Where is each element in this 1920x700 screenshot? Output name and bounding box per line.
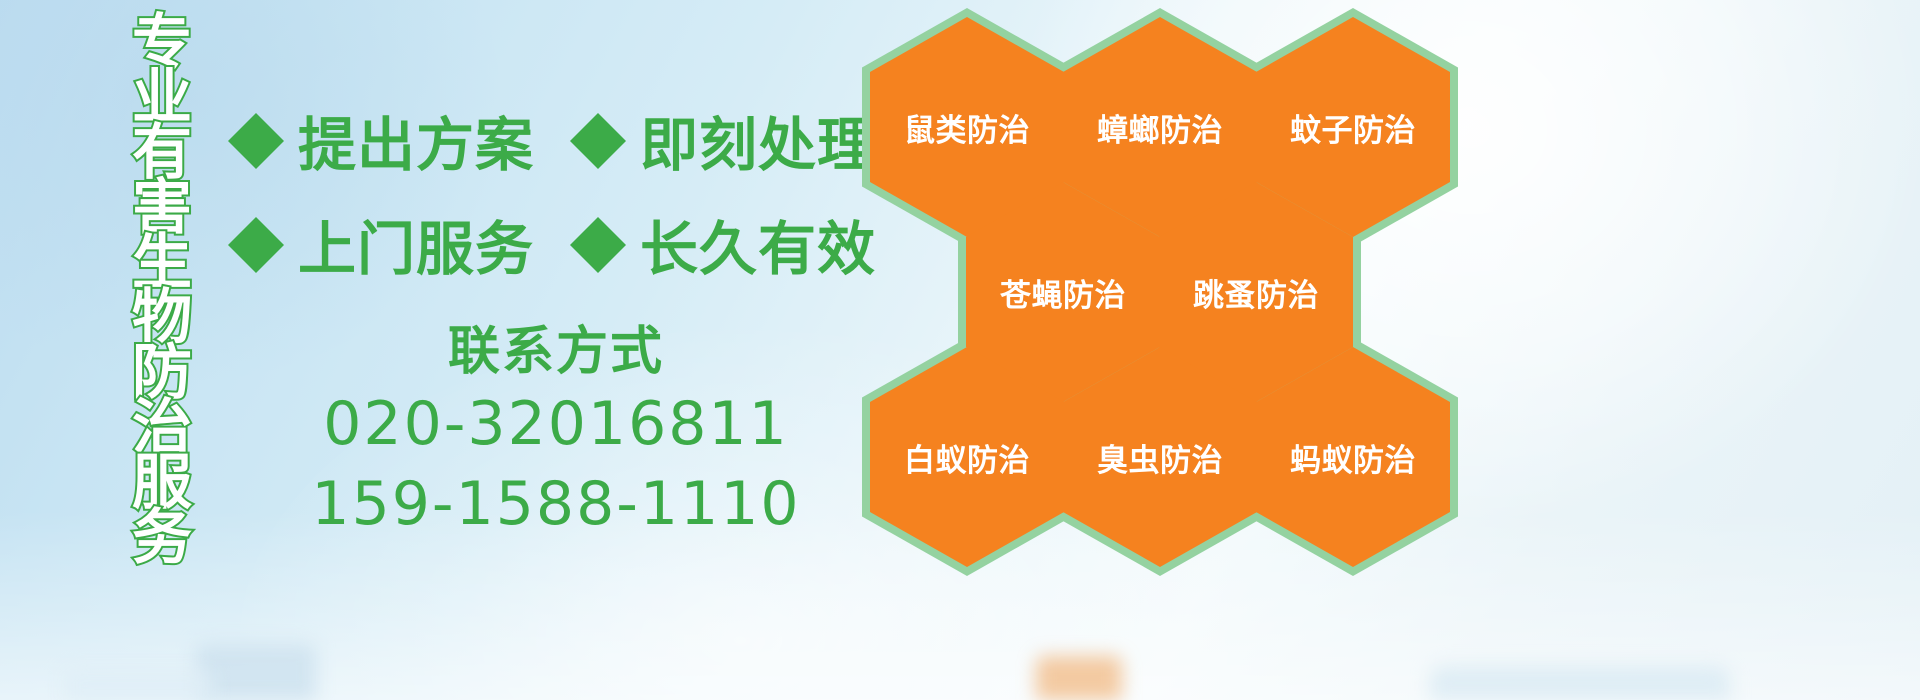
- phone-number-landline[interactable]: 020-32016811: [236, 385, 876, 465]
- feature-label: 提出方案: [298, 98, 534, 182]
- promo-banner: 专 业 有 害 生 物 防 治 服 务 提出方案 即刻处理 上门服务: [0, 0, 1920, 700]
- diamond-bullet-icon: [228, 85, 284, 141]
- feature-label: 上门服务: [298, 202, 534, 286]
- contact-label: 联系方式: [236, 320, 876, 385]
- feature-item-long-lasting: 长久有效: [570, 202, 876, 286]
- feature-label: 长久有效: [640, 202, 876, 286]
- service-hex-label: 蟑螂防治: [1097, 105, 1223, 150]
- feature-item-onsite-service: 上门服务: [228, 202, 534, 286]
- service-honeycomb: 鼠类防治 蟑螂防治 蚊子防治 苍蝇防治 跳蚤防治 白蚁防治 臭虫防治 蚂蚁防治: [862, 8, 1462, 556]
- service-hex-label: 苍蝇防治: [1000, 270, 1126, 315]
- service-hex-label: 蚊子防治: [1290, 105, 1416, 150]
- service-hex-label: 臭虫防治: [1097, 435, 1223, 480]
- background-blur-shape: [196, 644, 316, 700]
- background-blur-shape: [1036, 656, 1122, 700]
- background-blur-shape: [1430, 666, 1730, 700]
- contact-block: 联系方式 020-32016811 159-1588-1110: [236, 320, 876, 545]
- service-hex-label: 鼠类防治: [904, 105, 1030, 150]
- diamond-bullet-icon: [228, 189, 284, 245]
- feature-list: 提出方案 即刻处理 上门服务 长久有效: [228, 88, 868, 296]
- background-blur-shape: [64, 670, 214, 700]
- service-hex-label: 蚂蚁防治: [1290, 435, 1416, 480]
- feature-row: 提出方案 即刻处理: [228, 88, 868, 192]
- feature-row: 上门服务 长久有效: [228, 192, 868, 296]
- phone-number-mobile[interactable]: 159-1588-1110: [236, 465, 876, 545]
- vertical-headline: 专 业 有 害 生 物 防 治 服 务: [112, 16, 212, 566]
- diamond-bullet-icon: [570, 189, 626, 245]
- service-hex-label: 白蚁防治: [904, 435, 1030, 480]
- feature-item-propose-plan: 提出方案: [228, 98, 534, 182]
- feature-label: 即刻处理: [640, 98, 876, 182]
- service-hex-label: 跳蚤防治: [1193, 270, 1319, 315]
- diamond-bullet-icon: [570, 85, 626, 141]
- vertical-headline-char: 务: [132, 511, 192, 566]
- feature-item-immediate-handling: 即刻处理: [570, 98, 876, 182]
